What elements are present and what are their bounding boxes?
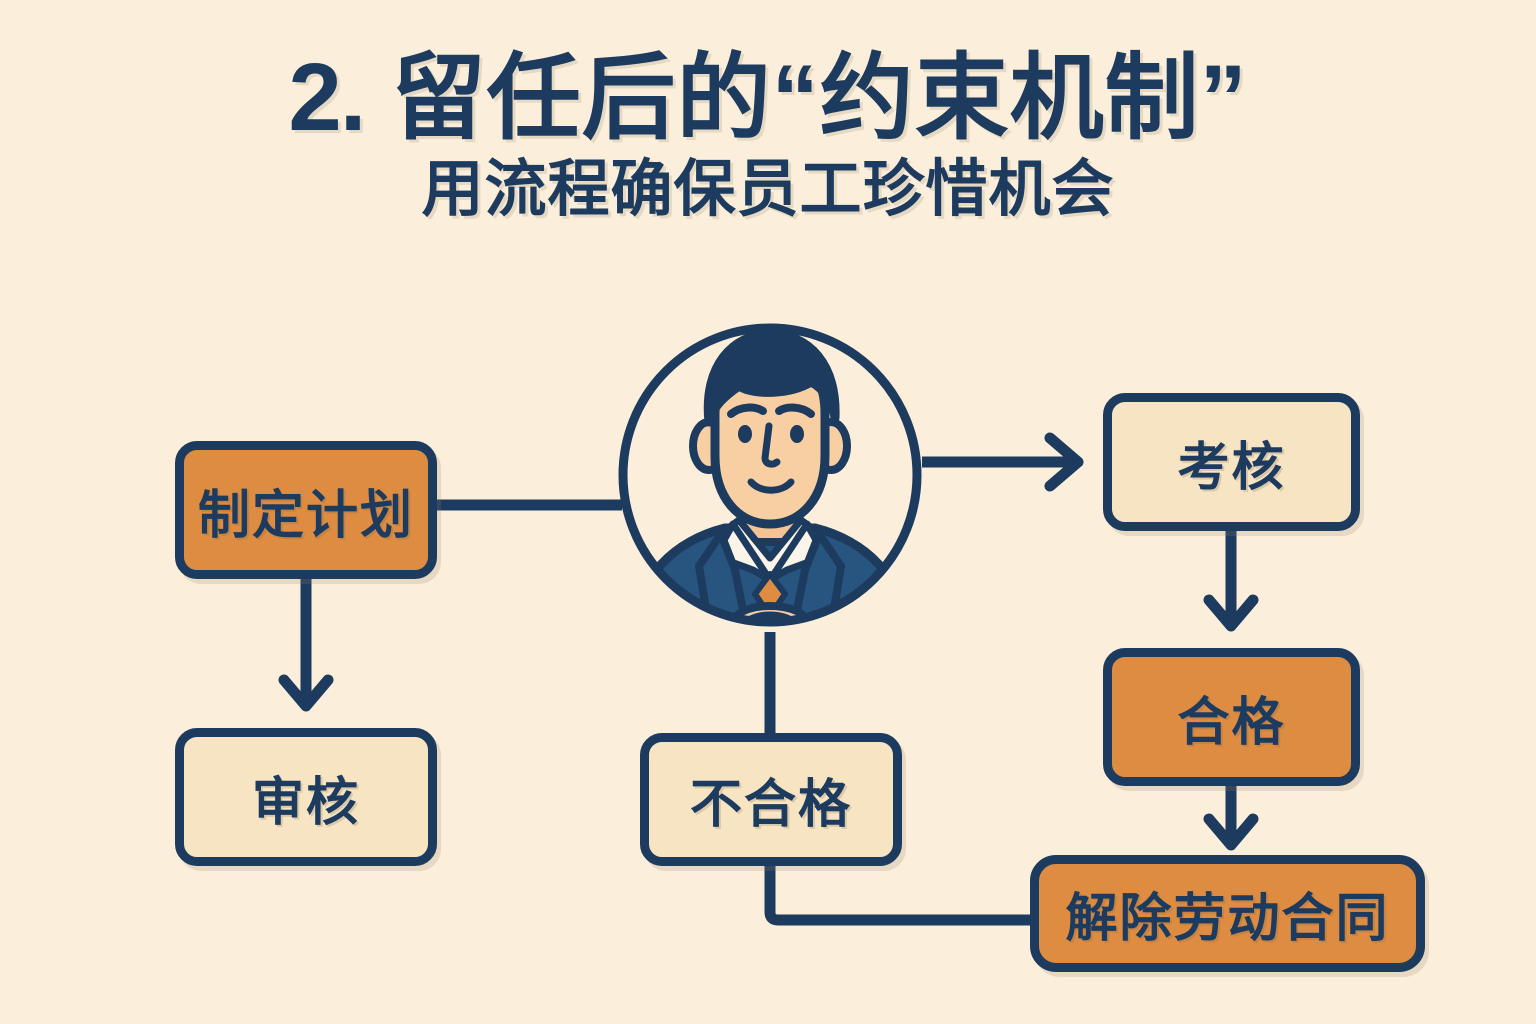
edge-fail-to-terminate [770, 866, 1030, 920]
infographic-canvas: 2. 留任后的“约束机制” 用流程确保员工珍惜机会 制定计 [0, 0, 1536, 1024]
node-plan-label: 制定计划 [198, 473, 414, 548]
avatar [615, 318, 925, 640]
node-review-label: 审核 [252, 760, 360, 835]
node-plan[interactable]: 制定计划 [175, 441, 437, 579]
node-fail-label: 不合格 [690, 762, 852, 837]
node-pass[interactable]: 合格 [1103, 648, 1360, 786]
node-terminate[interactable]: 解除劳动合同 [1030, 855, 1425, 972]
businessman-avatar-icon [615, 318, 925, 640]
node-fail[interactable]: 不合格 [640, 733, 902, 866]
node-assess-label: 考核 [1177, 425, 1285, 500]
node-review[interactable]: 审核 [175, 728, 437, 866]
node-assess[interactable]: 考核 [1103, 393, 1360, 531]
node-pass-label: 合格 [1177, 680, 1285, 755]
node-terminate-label: 解除劳动合同 [1065, 876, 1389, 951]
